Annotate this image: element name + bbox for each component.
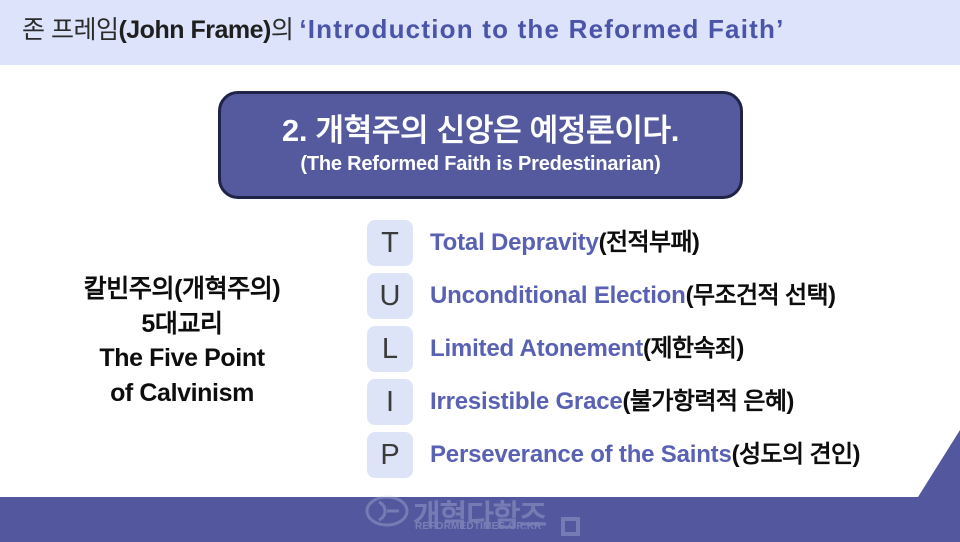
caption-line: of Calvinism <box>22 376 342 411</box>
tulip-korean-label: (불가항력적 은혜) <box>623 388 794 415</box>
header-title-line: 존 프레임(John Frame)의‘Introduction to the R… <box>22 16 785 43</box>
tulip-row-l: L Limited Atonement(제한속죄) <box>367 326 942 372</box>
tulip-letter-badge: T <box>367 220 413 266</box>
tulip-letter-badge: I <box>367 379 413 425</box>
caption-line: 5대교리 <box>22 307 342 342</box>
slide-canvas: 존 프레임(John Frame)의‘Introduction to the R… <box>0 0 960 542</box>
tulip-letter-badge: L <box>367 326 413 372</box>
header-book-title: ‘Introduction to the Reformed Faith’ <box>299 14 784 44</box>
tulip-english-label: Total Depravity <box>430 229 599 256</box>
tulip-row-i: I Irresistible Grace(불가항력적 은혜) <box>367 379 942 425</box>
tulip-korean-label: (성도의 견인) <box>732 441 860 468</box>
tulip-row-text: Irresistible Grace(불가항력적 은혜) <box>430 390 794 414</box>
tulip-row-p: P Perseverance of the Saints(성도의 견인) <box>367 432 942 478</box>
tulip-letter-badge: P <box>367 432 413 478</box>
header-band: 존 프레임(John Frame)의‘Introduction to the R… <box>0 0 960 65</box>
tulip-english-label: Irresistible Grace <box>430 388 623 415</box>
caption-line: 칼빈주의(개혁주의) <box>22 272 342 307</box>
tulip-korean-label: (제한속죄) <box>643 335 744 362</box>
left-caption-block: 칼빈주의(개혁주의) 5대교리 The Five Point of Calvin… <box>22 272 342 410</box>
tulip-korean-label: (전적부패) <box>599 229 700 256</box>
tulip-english-label: Perseverance of the Saints <box>430 441 732 468</box>
header-author-korean: 존 프레임 <box>22 16 118 44</box>
caption-line: The Five Point <box>22 341 342 376</box>
tulip-row-text: Limited Atonement(제한속죄) <box>430 337 744 361</box>
header-korean-particle: 의 <box>271 16 294 44</box>
section-title-english: (The Reformed Faith is Predestinarian) <box>300 152 660 176</box>
tulip-list: T Total Depravity(전적부패) U Unconditional … <box>367 220 942 485</box>
tulip-letter-badge: U <box>367 273 413 319</box>
tulip-korean-label: (무조건적 선택) <box>686 282 836 309</box>
section-title-box: 2. 개혁주의 신앙은 예정론이다. (The Reformed Faith i… <box>218 91 743 199</box>
tulip-row-text: Perseverance of the Saints(성도의 견인) <box>430 443 860 467</box>
tulip-row-text: Unconditional Election(무조건적 선택) <box>430 284 835 308</box>
tulip-english-label: Unconditional Election <box>430 282 686 309</box>
tulip-english-label: Limited Atonement <box>430 335 643 362</box>
tulip-row-text: Total Depravity(전적부패) <box>430 231 699 255</box>
tulip-row-t: T Total Depravity(전적부패) <box>367 220 942 266</box>
section-title-korean: 2. 개혁주의 신앙은 예정론이다. <box>282 114 679 149</box>
tulip-row-u: U Unconditional Election(무조건적 선택) <box>367 273 942 319</box>
header-author-english: (John Frame) <box>118 16 270 44</box>
